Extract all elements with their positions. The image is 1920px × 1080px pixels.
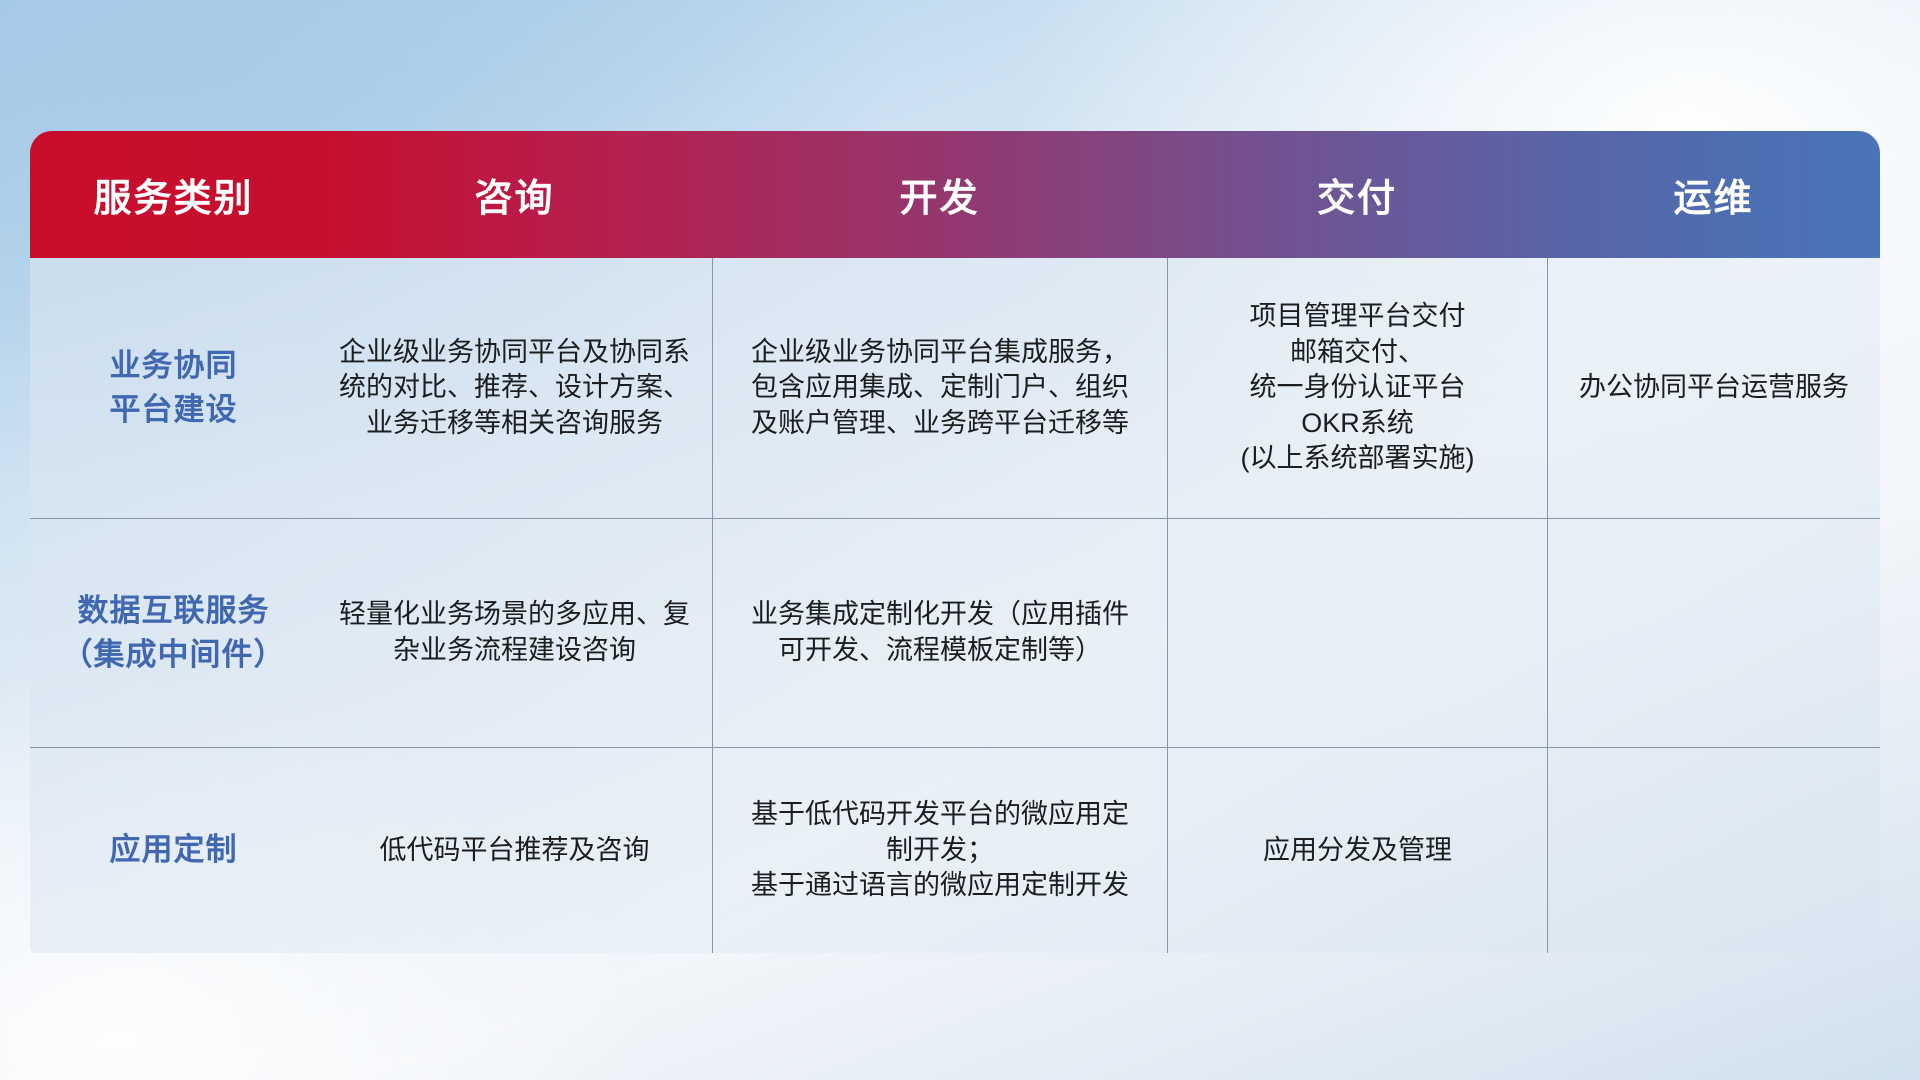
- service-matrix-table: 服务类别 咨询 开发 交付 运维 业务协同 平台建设 企业级业务协同平台及协同系…: [30, 131, 1880, 951]
- cell-consulting: 企业级业务协同平台及协同系 统的对比、推荐、设计方案、 业务迁移等相关咨询服务: [317, 258, 712, 518]
- table-header-row: 服务类别 咨询 开发 交付 运维: [30, 131, 1880, 258]
- cell-operations: [1547, 519, 1880, 747]
- table-header-development: 开发: [712, 167, 1167, 222]
- table-header-operations: 运维: [1547, 167, 1880, 222]
- table-header-service-category: 服务类别: [30, 167, 317, 222]
- cell-delivery: 应用分发及管理: [1167, 748, 1547, 953]
- cell-delivery: [1167, 519, 1547, 747]
- cell-development: 业务集成定制化开发（应用插件 可开发、流程模板定制等）: [712, 519, 1167, 747]
- table-row: 应用定制 低代码平台推荐及咨询 基于低代码开发平台的微应用定 制开发； 基于通过…: [30, 747, 1880, 953]
- cell-operations: 办公协同平台运营服务: [1547, 258, 1880, 518]
- cell-development: 基于低代码开发平台的微应用定 制开发； 基于通过语言的微应用定制开发: [712, 748, 1167, 953]
- page-root: 服务类别 咨询 开发 交付 运维 业务协同 平台建设 企业级业务协同平台及协同系…: [0, 0, 1920, 1080]
- table-header-consulting: 咨询: [317, 167, 712, 222]
- cell-consulting: 低代码平台推荐及咨询: [317, 748, 712, 953]
- cell-delivery: 项目管理平台交付 邮箱交付、 统一身份认证平台 OKR系统 (以上系统部署实施): [1167, 258, 1547, 518]
- table-row: 数据互联服务 （集成中间件） 轻量化业务场景的多应用、复 杂业务流程建设咨询 业…: [30, 518, 1880, 747]
- table-body: 业务协同 平台建设 企业级业务协同平台及协同系 统的对比、推荐、设计方案、 业务…: [30, 258, 1880, 953]
- cell-operations: [1547, 748, 1880, 953]
- row-category-label: 应用定制: [30, 748, 317, 953]
- cell-consulting: 轻量化业务场景的多应用、复 杂业务流程建设咨询: [317, 519, 712, 747]
- row-category-label: 数据互联服务 （集成中间件）: [30, 519, 317, 747]
- table-row: 业务协同 平台建设 企业级业务协同平台及协同系 统的对比、推荐、设计方案、 业务…: [30, 258, 1880, 518]
- row-category-label: 业务协同 平台建设: [30, 258, 317, 518]
- table-header-delivery: 交付: [1167, 167, 1547, 222]
- cell-development: 企业级业务协同平台集成服务， 包含应用集成、定制门户、组织 及账户管理、业务跨平…: [712, 258, 1167, 518]
